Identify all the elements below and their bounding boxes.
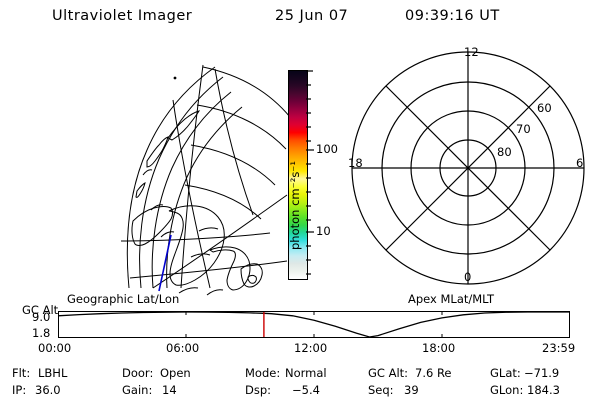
alt-plot-ytick-low: 1.8 [32, 326, 50, 340]
status-flt-label: Flt: [12, 366, 30, 380]
mlt-label-6: 6 [576, 156, 583, 170]
alt-plot-xtick-3: 18:00 [422, 341, 455, 355]
status-mode-value: Normal [285, 366, 327, 380]
status-door-value: Open [160, 366, 191, 380]
status-gcalt-label: GC Alt: [368, 366, 408, 380]
alt-plot-xtick-4: 23:59 [542, 341, 575, 355]
mlt-label-12: 12 [464, 45, 479, 59]
status-flt-value: LBHL [38, 366, 67, 380]
terminator-line [159, 235, 171, 291]
status-mode-label: Mode: [245, 366, 280, 380]
left-panel-caption: Geographic Lat/Lon [67, 292, 179, 306]
observation-time: 09:39:16 UT [405, 8, 500, 24]
mlat-ring-label-60: 60 [537, 101, 552, 115]
status-door-label: Door: [122, 366, 153, 380]
uvi-display-window: Ultraviolet Imager 25 Jun 07 09:39:16 UT [0, 0, 600, 400]
status-ip-label: IP: [12, 383, 26, 397]
mlt-label-0: 0 [464, 270, 471, 284]
status-glat-value: −71.9 [524, 366, 559, 380]
mlat-ring-label-70: 70 [516, 122, 531, 136]
apex-polar-panel [340, 40, 596, 296]
status-seq-label: Seq: [368, 383, 394, 397]
alt-plot-xtick-1: 06:00 [166, 341, 199, 355]
geographic-map-panel [55, 45, 280, 290]
status-gcalt-value: 7.6 Re [415, 366, 452, 380]
status-row-2: IP: 36.0 Gain: 14 Dsp: −5.4 Seq: 39 GLon… [0, 383, 600, 398]
colorbar-tick-label-100: 100 [316, 142, 338, 156]
status-bar: Flt: LBHL Door: Open Mode: Normal GC Alt… [0, 366, 600, 398]
status-glon-value: 184.3 [527, 383, 560, 397]
alt-plot-ytick-high: 9.0 [32, 310, 50, 324]
mlat-ring-label-80: 80 [497, 145, 512, 159]
right-panel-caption: Apex MLat/MLT [408, 292, 494, 306]
observation-date: 25 Jun 07 [275, 8, 348, 24]
alt-plot-xtick-2: 12:00 [294, 341, 327, 355]
colorbar-tick-label-10: 10 [316, 224, 331, 238]
status-row-1: Flt: LBHL Door: Open Mode: Normal GC Alt… [0, 366, 600, 381]
status-gain-value: 14 [162, 383, 177, 397]
status-dsp-label: Dsp: [245, 383, 271, 397]
status-gain-label: Gain: [122, 383, 152, 397]
instrument-title: Ultraviolet Imager [52, 8, 192, 24]
alt-plot-xtick-0: 00:00 [38, 341, 71, 355]
gc-altitude-plot [58, 311, 570, 338]
colorbar-ticks [306, 68, 316, 282]
status-dsp-value: −5.4 [292, 383, 320, 397]
status-glon-label: GLon: [490, 383, 523, 397]
mlt-label-18: 18 [348, 156, 363, 170]
status-seq-value: 39 [404, 383, 419, 397]
status-ip-value: 36.0 [35, 383, 61, 397]
colorbar-unit-label: photon cm⁻²s⁻¹ [288, 161, 302, 250]
status-glat-label: GLat: [490, 366, 521, 380]
